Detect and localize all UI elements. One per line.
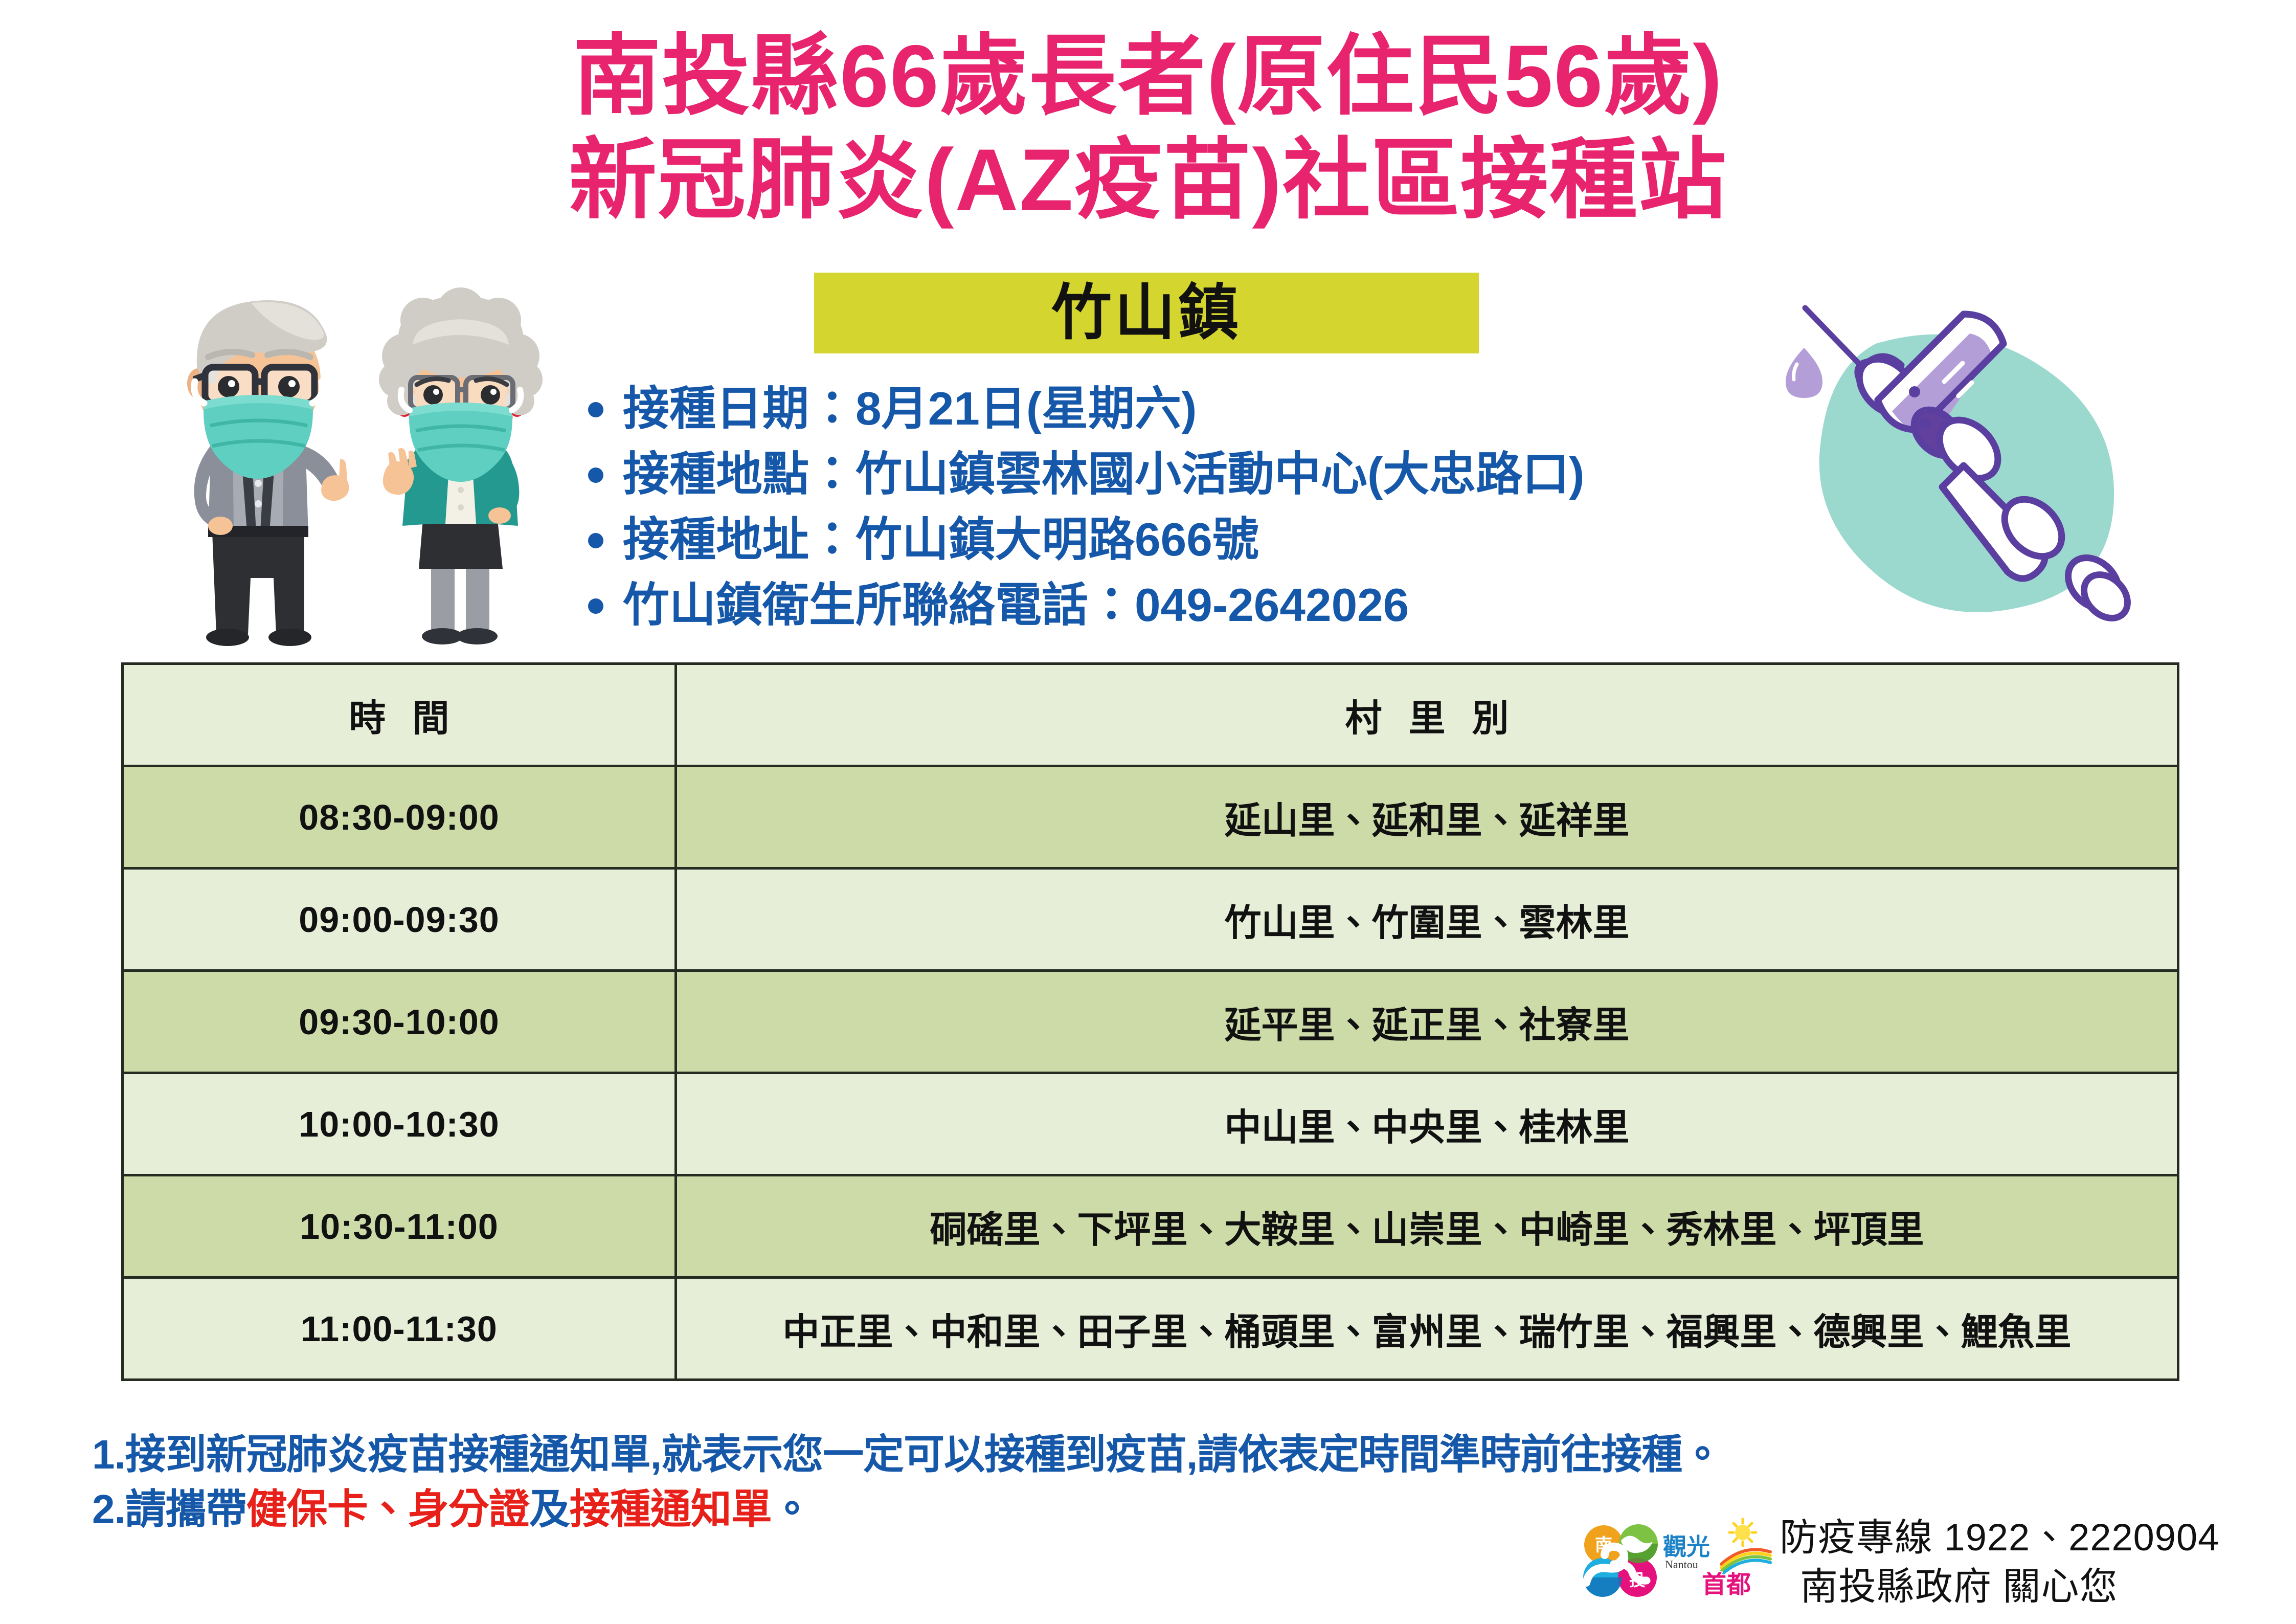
logo-char-nan: 南 — [1595, 1536, 1612, 1555]
vaccination-schedule-table: 時 間 村 里 別 08:30-09:00 延山里、延和里、延祥里 09:00-… — [121, 662, 2179, 1381]
table-cell-villages: 中山里、中央里、桂林里 — [676, 1073, 2178, 1175]
table-row: 09:00-09:30 竹山里、竹圍里、雲林里 — [123, 869, 2178, 971]
table-cell-time: 10:00-10:30 — [123, 1073, 676, 1175]
logo-word-nantou-en: Nantou — [1665, 1558, 1698, 1571]
info-bullet-date-label: 接種日期：8月21日(星期六) — [623, 386, 1197, 432]
note2-highlight-notice: 接種通知單 — [570, 1486, 772, 1532]
table-row: 10:30-11:00 硐磘里、下坪里、大鞍里、山崇里、中崎里、秀林里、坪頂里 — [123, 1175, 2178, 1278]
table-header-time: 時 間 — [123, 664, 676, 766]
table-header-row: 時 間 村 里 別 — [123, 664, 2178, 766]
info-bullet-phone: 竹山鎮衛生所聯絡電話：049-2642026 — [588, 572, 1943, 638]
elderly-couple-illustration — [151, 246, 575, 655]
table-cell-time: 11:00-11:30 — [123, 1278, 676, 1380]
vaccination-info-list: 接種日期：8月21日(星期六) 接種地點：竹山鎮雲林國小活動中心(大忠路口) 接… — [588, 376, 1943, 638]
table-row: 08:30-09:00 延山里、延和里、延祥里 — [123, 766, 2178, 869]
note2-middle: 及 — [529, 1486, 570, 1532]
bullet-dot-icon — [588, 468, 603, 483]
town-name-badge: 竹山鎮 — [814, 273, 1479, 353]
table-cell-time: 10:30-11:00 — [123, 1175, 676, 1278]
table-header-village: 村 里 別 — [676, 664, 2178, 766]
bullet-dot-icon — [588, 533, 603, 548]
bullet-dot-icon — [588, 598, 603, 614]
table-cell-villages: 延平里、延正里、社寮里 — [676, 971, 2178, 1073]
info-bullet-venue: 接種地點：竹山鎮雲林國小活動中心(大忠路口) — [588, 441, 1943, 507]
note2-prefix: 2.請攜帶 — [92, 1486, 246, 1532]
info-bullet-date: 接種日期：8月21日(星期六) — [588, 376, 1943, 441]
logo-word-guanguang: 觀光 — [1663, 1533, 1710, 1560]
bullet-dot-icon — [588, 402, 603, 417]
table-row: 10:00-10:30 中山里、中央里、桂林里 — [123, 1073, 2178, 1175]
footer-organization: 南投縣政府 關心您 — [1780, 1562, 2219, 1611]
grandpa-figure — [187, 300, 349, 646]
table-cell-time: 09:00-09:30 — [123, 869, 676, 971]
info-bullet-address-label: 接種地址：竹山鎮大明路666號 — [623, 517, 1259, 563]
logo-char-tou: 投 — [1629, 1571, 1646, 1589]
table-row: 09:30-10:00 延平里、延正里、社寮里 — [123, 971, 2178, 1073]
footer-hotline: 防疫專線 1922、2220904 — [1780, 1513, 2219, 1562]
info-bullet-phone-label: 竹山鎮衛生所聯絡電話：049-2642026 — [623, 582, 1409, 629]
note-line-1: 1.接到新冠肺炎疫苗接種通知單,就表示您一定可以接種到疫苗,請依表定時間準時前往… — [92, 1427, 2240, 1482]
table-cell-villages: 中正里、中和里、田子里、桶頭里、富州里、瑞竹里、福興里、德興里、鯉魚里 — [676, 1278, 2178, 1380]
table-cell-villages: 延山里、延和里、延祥里 — [676, 766, 2178, 869]
title-line-2: 新冠肺炎(AZ疫苗)社區接種站 — [0, 128, 2296, 232]
table-cell-time: 09:30-10:00 — [123, 971, 676, 1073]
grandma-figure — [379, 287, 543, 644]
title-line-1: 南投縣66歲長者(原住民56歲) — [0, 25, 2296, 128]
note2-suffix: 。 — [772, 1486, 812, 1532]
table-cell-villages: 竹山里、竹圍里、雲林里 — [676, 869, 2178, 971]
table-cell-time: 08:30-09:00 — [123, 766, 676, 869]
poster-root: 南投縣66歲長者(原住民56歲) 新冠肺炎(AZ疫苗)社區接種站 — [0, 0, 2296, 1624]
info-bullet-venue-label: 接種地點：竹山鎮雲林國小活動中心(大忠路口) — [623, 451, 1585, 498]
table-row: 11:00-11:30 中正里、中和里、田子里、桶頭里、富州里、瑞竹里、福興里、… — [123, 1278, 2178, 1380]
logo-sun-icon — [1729, 1519, 1756, 1546]
note2-highlight-documents: 健保卡、身分證 — [246, 1486, 529, 1532]
town-name-label: 竹山鎮 — [1051, 283, 1242, 343]
footer-contact-block: 防疫專線 1922、2220904 南投縣政府 關心您 — [1780, 1513, 2219, 1611]
logo-word-shoudu: 首都 — [1702, 1571, 1751, 1598]
nantou-tourism-logo: 南 投 觀光 Nantou 首都 — [1574, 1515, 1773, 1607]
info-bullet-address: 接種地址：竹山鎮大明路666號 — [588, 507, 1943, 572]
poster-title: 南投縣66歲長者(原住民56歲) 新冠肺炎(AZ疫苗)社區接種站 — [0, 25, 2296, 232]
table-cell-villages: 硐磘里、下坪里、大鞍里、山崇里、中崎里、秀林里、坪頂里 — [676, 1175, 2178, 1278]
